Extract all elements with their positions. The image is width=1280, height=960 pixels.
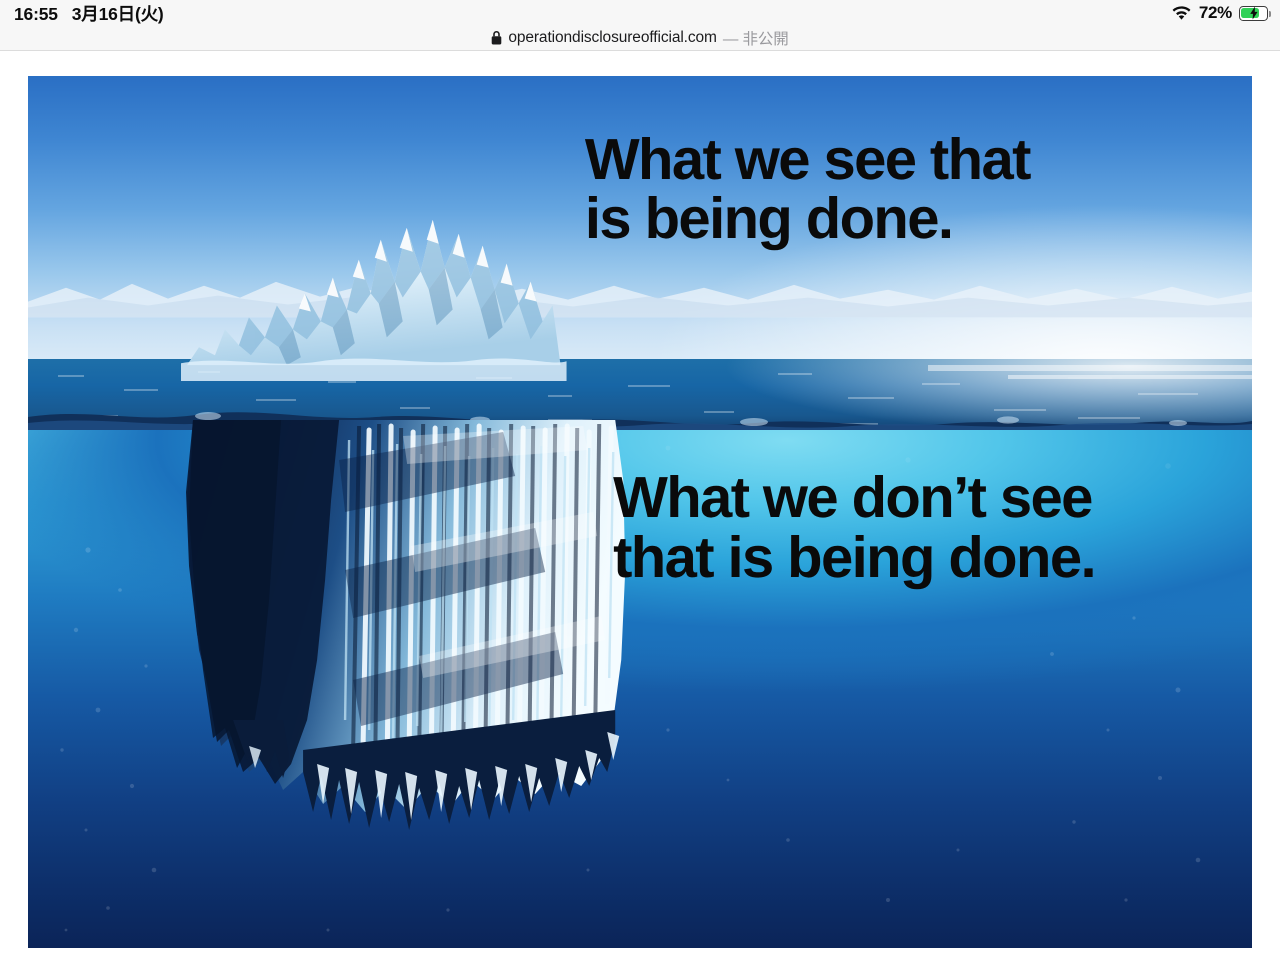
safari-url-bar[interactable]: operationdisclosureofficial.com — 非公開: [0, 26, 1280, 51]
url-bar-content[interactable]: operationdisclosureofficial.com — 非公開: [491, 27, 788, 49]
headline-below-water: What we don’t see that is being done.: [613, 468, 1095, 586]
status-bar-date: 3月16日(火): [72, 1, 164, 26]
status-bar-right: 72%: [1171, 3, 1268, 23]
url-text: operationdisclosureofficial.com: [508, 29, 717, 47]
battery-charging-icon: [1239, 6, 1268, 21]
ios-status-bar: 16:55 3月16日(火) 72%: [0, 0, 1280, 26]
headline-above-water: What we see that is being done.: [585, 130, 1030, 248]
url-privacy-label: — 非公開: [723, 27, 789, 49]
lock-icon: [491, 32, 502, 45]
battery-percent-label: 72%: [1199, 3, 1232, 23]
iceberg-below-water: [163, 420, 634, 917]
status-bar-time: 16:55: [14, 4, 58, 25]
iceberg-above-water: [181, 198, 567, 381]
status-bar-left: 16:55 3月16日(火): [14, 1, 164, 26]
wifi-icon: [1171, 5, 1192, 21]
iceberg-metaphor-image: What we see that is being done. What we …: [28, 76, 1252, 948]
web-page-body: What we see that is being done. What we …: [0, 51, 1280, 960]
